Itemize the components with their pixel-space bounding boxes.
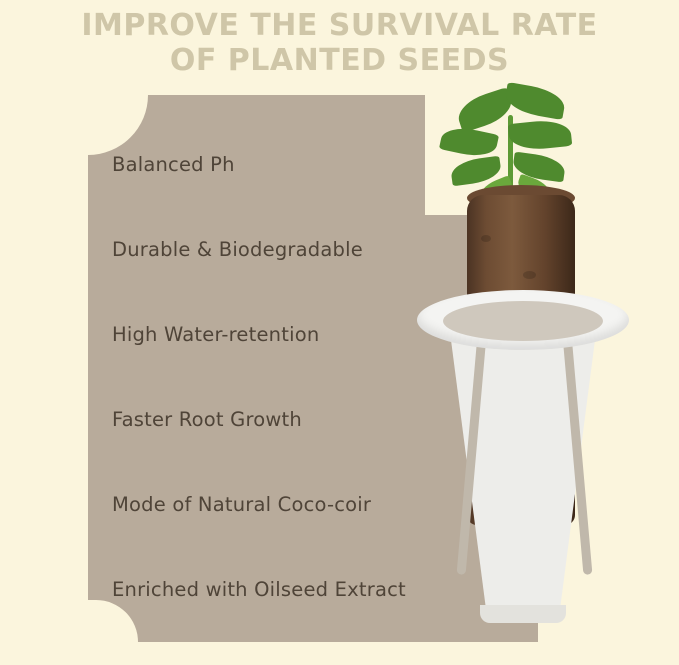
list-item: Balanced Ph: [112, 122, 452, 207]
soil-texture-dot: [481, 235, 491, 242]
benefits-list: Balanced Ph Durable & Biodegradable High…: [112, 122, 452, 632]
leaf-icon: [439, 123, 499, 160]
soil-texture-dot: [523, 271, 536, 279]
list-item: Durable & Biodegradable: [112, 207, 452, 292]
leaf-icon: [508, 118, 573, 152]
list-item: Mode of Natural Coco-coir: [112, 462, 452, 547]
leaf-icon: [503, 82, 567, 120]
list-item: Faster Root Growth: [112, 377, 452, 462]
product-image: [405, 85, 640, 630]
net-cup-base: [480, 605, 566, 623]
list-item: Enriched with Oilseed Extract: [112, 547, 452, 632]
list-item: High Water-retention: [112, 292, 452, 377]
poster: IMPROVE THE SURVIVAL RATE OF PLANTED SEE…: [0, 0, 679, 665]
page-title-line-1: IMPROVE THE SURVIVAL RATE: [0, 8, 679, 43]
page-title-line-2: OF PLANTED SEEDS: [0, 43, 679, 78]
net-cup-rim-opening: [443, 301, 603, 341]
page-title: IMPROVE THE SURVIVAL RATE OF PLANTED SEE…: [0, 0, 679, 88]
